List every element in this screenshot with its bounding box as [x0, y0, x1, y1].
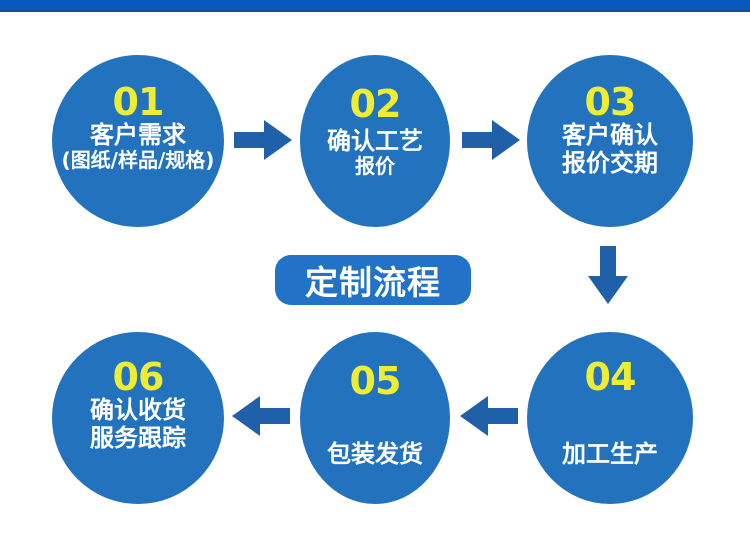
flowchart-canvas: 01 客户需求 (图纸/样品/规格) 02 确认工艺 报价 03 客户确认 报价… — [0, 0, 750, 550]
step-number-05: 05 — [350, 362, 401, 400]
step-number-01: 01 — [113, 83, 164, 121]
step-node-03[interactable]: 03 客户确认 报价交期 — [527, 55, 693, 227]
step-number-03: 03 — [585, 83, 636, 121]
center-badge-label: 定制流程 — [305, 256, 441, 304]
step-label-06-line1: 确认收货 — [90, 396, 186, 424]
step-node-04[interactable]: 04 加工生产 — [527, 332, 693, 504]
step-label-06-line2: 服务跟踪 — [90, 424, 186, 452]
step-label-02-line2: 报价 — [355, 155, 395, 179]
step-label-01-line2: (图纸/样品/规格) — [62, 149, 215, 173]
arrow-step-01-to-02-icon — [234, 116, 292, 164]
step-label-03-line1: 客户确认 — [562, 121, 658, 149]
step-node-05[interactable]: 05 包装发货 — [300, 332, 450, 504]
top-accent-band — [0, 0, 750, 12]
arrow-step-04-to-05-icon — [460, 392, 518, 440]
step-label-02-line1: 确认工艺 — [327, 127, 423, 155]
step-node-02[interactable]: 02 确认工艺 报价 — [300, 55, 450, 227]
arrow-step-03-to-04-icon — [584, 246, 632, 304]
arrow-step-02-to-03-icon — [462, 116, 520, 164]
step-number-02: 02 — [350, 85, 401, 123]
step-label-03-line2: 报价交期 — [562, 149, 658, 177]
center-badge: 定制流程 — [275, 255, 471, 305]
step-label-05-line1: 包装发货 — [327, 440, 423, 468]
arrow-step-05-to-06-icon — [232, 392, 290, 440]
step-label-01-line1: 客户需求 — [90, 121, 186, 149]
step-number-04: 04 — [585, 358, 636, 396]
step-node-06[interactable]: 06 确认收货 服务跟踪 — [52, 332, 224, 504]
step-label-04-line1: 加工生产 — [562, 440, 658, 468]
step-node-01[interactable]: 01 客户需求 (图纸/样品/规格) — [52, 55, 224, 227]
step-number-06: 06 — [113, 358, 164, 396]
